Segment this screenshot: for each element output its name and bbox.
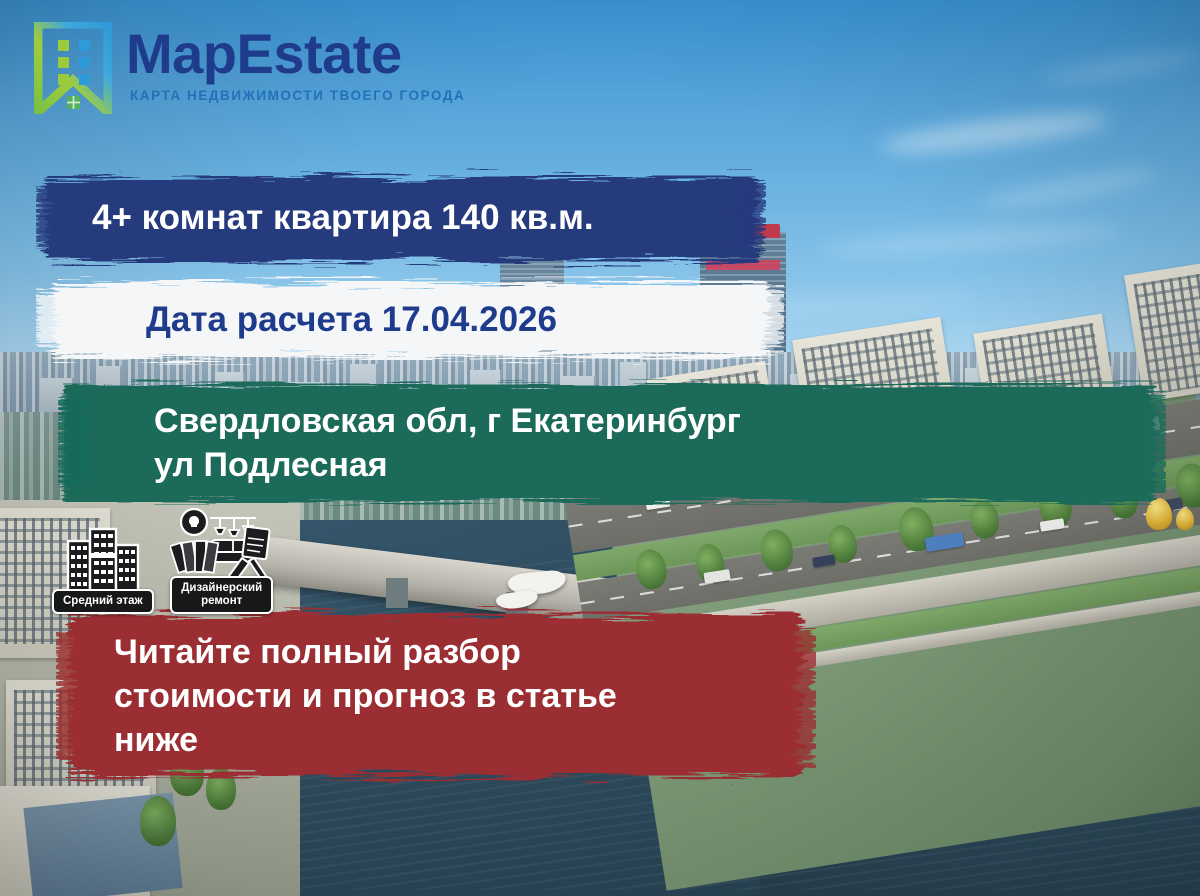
cta-line-1: Читайте полный разбор [114, 630, 617, 674]
church-dome [1176, 508, 1194, 530]
bridge-pier [386, 578, 408, 608]
interior-design-icon [170, 508, 274, 582]
badge-middle-floor[interactable]: Средний этаж [52, 523, 154, 614]
promo-poster: MapEstate КАРТА НЕДВИЖИМОСТИ ТВОЕГО ГОРО… [0, 0, 1200, 896]
bookmark-building-icon [34, 22, 112, 114]
cta-line-2: стоимости и прогноз в статье [114, 674, 617, 718]
feature-badges: Средний этаж [52, 508, 274, 614]
address-banner-text: Свердловская обл, г Екатеринбург ул Подл… [58, 399, 741, 487]
property-banner: 4+ комнат квартира 140 кв.м. [36, 168, 766, 268]
brand-name: MapEstate [126, 26, 465, 82]
badge-label: Средний этаж [52, 589, 154, 614]
date-banner: Дата расчета 17.04.2026 [36, 274, 784, 366]
address-line-1: Свердловская обл, г Екатеринбург [154, 399, 741, 443]
apartment-building-icon [62, 523, 144, 595]
badge-label: Дизайнерский ремонт [170, 576, 273, 614]
property-banner-text: 4+ комнат квартира 140 кв.м. [36, 195, 594, 241]
date-banner-text: Дата расчета 17.04.2026 [36, 297, 557, 343]
brand-name-map: Map [126, 22, 237, 85]
cta-banner-text: Читайте полный разбор стоимости и прогно… [56, 630, 617, 763]
brand-name-estate: Estate [237, 22, 402, 85]
address-banner: Свердловская обл, г Екатеринбург ул Подл… [58, 378, 1166, 508]
cta-banner: Читайте полный разбор стоимости и прогно… [56, 606, 816, 786]
brand-wordmark: MapEstate КАРТА НЕДВИЖИМОСТИ ТВОЕГО ГОРО… [126, 22, 465, 103]
brand-tagline: КАРТА НЕДВИЖИМОСТИ ТВОЕГО ГОРОДА [130, 88, 465, 103]
address-line-2: ул Подлесная [154, 443, 741, 487]
brand-logo[interactable]: MapEstate КАРТА НЕДВИЖИМОСТИ ТВОЕГО ГОРО… [34, 22, 465, 114]
badge-designer-renovation[interactable]: Дизайнерский ремонт [170, 508, 274, 614]
cta-line-3: ниже [114, 718, 617, 762]
